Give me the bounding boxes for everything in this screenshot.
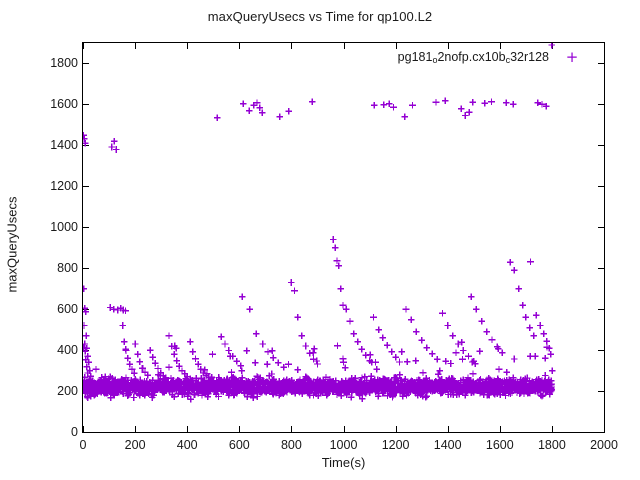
scatter-plot-canvas [83,43,604,432]
x-tick-label: 1400 [434,438,462,452]
plot-area [82,42,605,433]
x-axis-label: Time(s) [82,455,605,470]
x-tick-label: 2000 [590,438,618,452]
x-tick-label: 1800 [538,438,566,452]
x-tick-label: 1200 [382,438,410,452]
chart-page: maxQueryUsecs vs Time for qp100.L2 02004… [0,0,640,480]
y-axis-label: maxQueryUsecs [5,165,20,325]
legend-plus-marker: + [549,50,595,65]
data-points [83,43,556,403]
x-tick-label: 1000 [330,438,358,452]
x-tick-label: 0 [80,438,87,452]
legend: pg181o2nofp.cx10bc32r128 + [345,47,595,67]
x-tick-label: 600 [229,438,250,452]
x-tick-label: 200 [125,438,146,452]
x-tick-label: 800 [281,438,302,452]
x-tick-label: 1600 [486,438,514,452]
x-tick-label: 400 [177,438,198,452]
legend-series-label: pg181o2nofp.cx10bc32r128 [398,50,549,64]
